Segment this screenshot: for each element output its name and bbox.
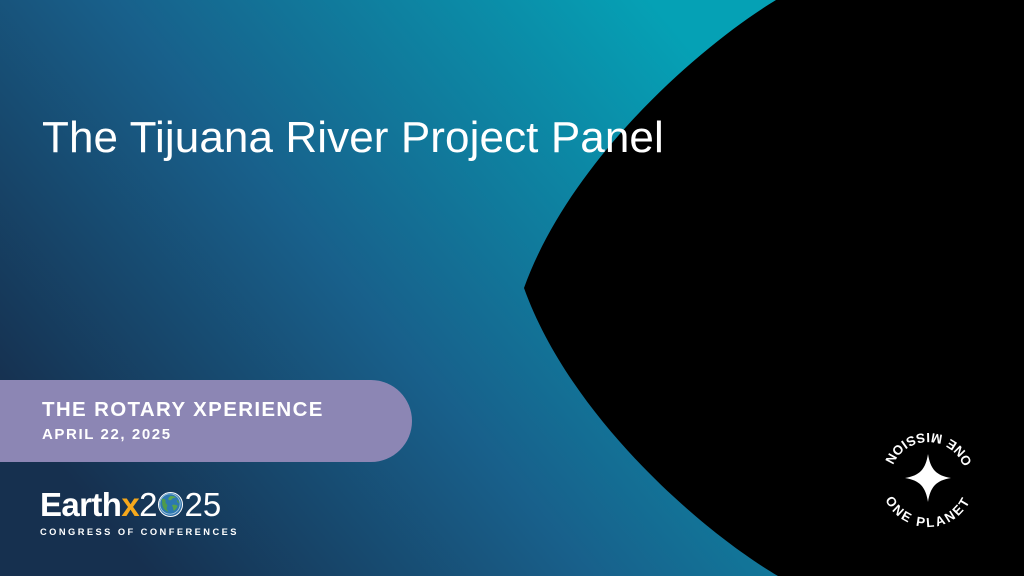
program-name-label: THE ROTARY XPERIENCE	[42, 397, 412, 423]
event-date-label: APRIL 22, 2025	[42, 425, 412, 445]
logo-year-prefix: 2	[139, 488, 157, 521]
logo-tagline: CONGRESS OF CONFERENCES	[40, 527, 250, 537]
globe-icon	[158, 492, 183, 517]
page-title: The Tijuana River Project Panel	[42, 114, 742, 162]
one-planet-one-mission-badge: ONE PLANET ONE MISSION	[866, 418, 990, 542]
earthx-logo: Earth x 2 25 CONGRESS OF CONFERENCES	[40, 486, 250, 544]
logo-year-suffix: 25	[184, 488, 221, 521]
event-info-pill: THE ROTARY XPERIENCE APRIL 22, 2025	[0, 380, 412, 462]
logo-text-x: x	[121, 488, 139, 521]
earthx-wordmark: Earth x 2 25	[40, 486, 250, 522]
four-point-star-icon	[905, 454, 951, 502]
slide-canvas: The Tijuana River Project Panel THE ROTA…	[0, 0, 1024, 576]
logo-text-earth: Earth	[40, 488, 121, 521]
